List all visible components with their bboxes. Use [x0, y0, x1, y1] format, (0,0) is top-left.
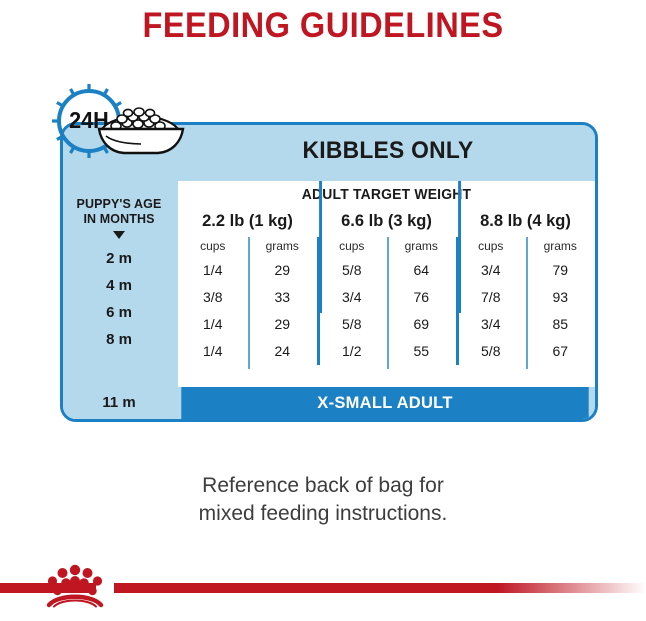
table-row: 3/8 33 3/4 76 7/8 93 [178, 284, 595, 311]
weight-header-row: 2.2 lb (1 kg) 6.6 lb (3 kg) 8.8 lb (4 kg… [178, 207, 595, 237]
value-group: 3/4 76 [317, 284, 456, 311]
cups-value: 3/4 [456, 257, 526, 284]
data-table: ADULT TARGET WEIGHT 2.2 lb (1 kg) 6.6 lb… [178, 181, 595, 387]
cups-value: 3/8 [178, 284, 248, 311]
cups-value: 1/4 [178, 257, 248, 284]
page-title: FEEDING GUIDELINES [23, 6, 624, 46]
note-line-2: mixed feeding instructions. [0, 500, 646, 528]
sidebar-title-line1: PUPPY'S AGE [63, 197, 175, 212]
value-group: 7/8 93 [456, 284, 595, 311]
age-list: 2 m 4 m 6 m 8 m [63, 245, 175, 353]
clock-24h-icon: 24H [46, 80, 191, 162]
unit-header-cups: cups [317, 237, 387, 257]
grams-value: 85 [526, 311, 596, 338]
grams-value: 29 [248, 257, 318, 284]
value-group: 5/8 69 [317, 311, 456, 338]
value-group: 1/4 29 [178, 257, 317, 284]
brand-rule-right [114, 583, 646, 593]
grams-value: 93 [526, 284, 596, 311]
cups-value: 5/8 [317, 257, 387, 284]
cups-value: 5/8 [317, 311, 387, 338]
unit-header-cups: cups [178, 237, 248, 257]
cups-value: 7/8 [456, 284, 526, 311]
grams-value: 69 [387, 311, 457, 338]
table-row: 1/4 29 5/8 69 3/4 85 [178, 311, 595, 338]
table-body: 1/4 29 5/8 64 3/4 79 3/8 33 [178, 257, 595, 365]
cups-value: 3/4 [317, 284, 387, 311]
value-group: 3/4 79 [456, 257, 595, 284]
weight-header: 2.2 lb (1 kg) [180, 207, 315, 237]
grams-value: 55 [387, 338, 457, 365]
grams-value: 24 [248, 338, 318, 365]
feeding-table-panel: KIBBLES ONLY PUPPY'S AGE IN MONTHS 2 m 4… [60, 122, 598, 422]
weight-header: 8.8 lb (4 kg) [458, 207, 593, 237]
units-group: cups grams [178, 237, 317, 257]
note-line-1: Reference back of bag for [0, 472, 646, 500]
brand-strip [0, 561, 646, 609]
grams-value: 79 [526, 257, 596, 284]
value-group: 1/4 29 [178, 311, 317, 338]
grams-value: 67 [526, 338, 596, 365]
cups-value: 1/2 [317, 338, 387, 365]
unit-header-grams: grams [387, 237, 457, 257]
cups-value: 3/4 [456, 311, 526, 338]
unit-header-cups: cups [456, 237, 526, 257]
unit-header-grams: grams [526, 237, 596, 257]
table-row: 1/4 29 5/8 64 3/4 79 [178, 257, 595, 284]
cups-value: 1/4 [178, 311, 248, 338]
triangle-down-icon [113, 231, 125, 239]
sidebar-title-line2: IN MONTHS [63, 212, 175, 227]
age-cell: 2 m [63, 245, 175, 272]
age-cell: 4 m [63, 272, 175, 299]
sidebar-title: PUPPY'S AGE IN MONTHS [63, 197, 175, 227]
unit-header-grams: grams [248, 237, 318, 257]
value-group: 5/8 67 [456, 338, 595, 365]
x-small-adult-label: X-SMALL ADULT [181, 387, 588, 419]
value-group: 5/8 64 [317, 257, 456, 284]
bottom-age-label: 11 m [63, 387, 175, 419]
units-group: cups grams [317, 237, 456, 257]
age-cell: 6 m [63, 299, 175, 326]
kibbles-only-heading: KIBBLES ONLY [189, 137, 588, 165]
age-sidebar: PUPPY'S AGE IN MONTHS 2 m 4 m 6 m 8 m [63, 181, 175, 419]
royal-canin-crown-icon [44, 561, 106, 614]
grams-value: 64 [387, 257, 457, 284]
adult-target-weight-header: ADULT TARGET WEIGHT [186, 181, 586, 207]
adult-stage-bar: 11 m X-SMALL ADULT [63, 387, 595, 419]
table-row: 1/4 24 1/2 55 5/8 67 [178, 338, 595, 365]
value-group: 1/4 24 [178, 338, 317, 365]
cups-value: 1/4 [178, 338, 248, 365]
age-cell: 8 m [63, 326, 175, 353]
units-header-row: cups grams cups grams cups grams [178, 237, 595, 257]
cups-value: 5/8 [456, 338, 526, 365]
value-group: 1/2 55 [317, 338, 456, 365]
grams-value: 33 [248, 284, 318, 311]
value-group: 3/4 85 [456, 311, 595, 338]
feeding-guidelines-page: FEEDING GUIDELINES KIBBLES ONLY PUPPY'S … [0, 0, 646, 621]
grams-value: 76 [387, 284, 457, 311]
grams-value: 29 [248, 311, 318, 338]
kibble-bowl-icon [99, 108, 183, 153]
units-group: cups grams [456, 237, 595, 257]
mixed-feeding-note: Reference back of bag for mixed feeding … [0, 472, 646, 528]
weight-header: 6.6 lb (3 kg) [319, 207, 454, 237]
value-group: 3/8 33 [178, 284, 317, 311]
